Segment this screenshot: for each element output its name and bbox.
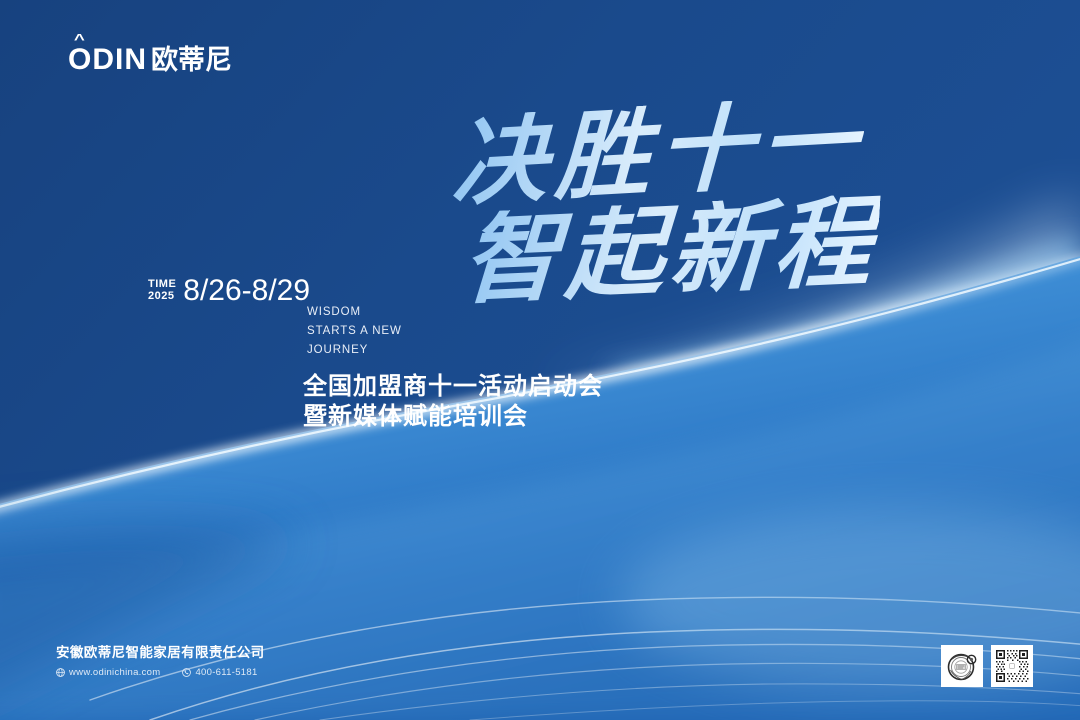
phone-item[interactable]: 400-611-5181 bbox=[182, 667, 257, 678]
main-title: 决胜十一 智起新程 bbox=[430, 105, 930, 355]
phone-icon bbox=[182, 668, 191, 677]
date-range: 8/26-8/29 bbox=[183, 276, 310, 306]
brand-logo: ODIN 欧蒂尼 bbox=[68, 45, 232, 75]
logo-din-letters: DIN bbox=[92, 43, 147, 76]
time-label-stack: TIME 2025 bbox=[148, 279, 176, 306]
company-name: 安徽欧蒂尼智能家居有限责任公司 bbox=[56, 645, 265, 661]
english-tagline: WISDOM STARTS A NEW JOURNEY bbox=[307, 303, 402, 360]
phone-text: 400-611-5181 bbox=[195, 667, 257, 678]
tagline-line1: WISDOM bbox=[307, 303, 402, 322]
website-text: www.odinichina.com bbox=[69, 667, 160, 678]
event-subtitle: 全国加盟商十一活动启动会 暨新媒体赋能培训会 bbox=[303, 371, 603, 431]
circular-seal-icon bbox=[944, 648, 980, 684]
qr-badge[interactable] bbox=[991, 645, 1033, 687]
seal-badge[interactable] bbox=[941, 645, 983, 687]
qr-code-icon bbox=[994, 648, 1030, 684]
tagline-line3: JOURNEY bbox=[307, 341, 402, 360]
badge-group bbox=[941, 645, 1033, 687]
website-item[interactable]: www.odinichina.com bbox=[56, 667, 160, 678]
tagline-line2: STARTS A NEW bbox=[307, 322, 402, 341]
logo-o-letter: O bbox=[68, 45, 92, 75]
poster-canvas: ODIN 欧蒂尼 决胜十一 智起新程 TIME 2025 8/26-8/29 W… bbox=[0, 0, 1080, 720]
logo-chinese: 欧蒂尼 bbox=[151, 47, 232, 74]
main-title-line2: 智起新程 bbox=[459, 193, 880, 310]
subtitle-line1: 全国加盟商十一活动启动会 bbox=[303, 371, 603, 401]
contact-row: www.odinichina.com 400-611-5181 bbox=[56, 667, 265, 678]
subtitle-line2: 暨新媒体赋能培训会 bbox=[303, 401, 603, 431]
footer: 安徽欧蒂尼智能家居有限责任公司 www.odinichina.com 400-6… bbox=[56, 645, 265, 678]
event-date: TIME 2025 8/26-8/29 bbox=[148, 276, 310, 306]
globe-icon bbox=[56, 668, 65, 677]
time-year: 2025 bbox=[148, 291, 176, 303]
logo-latin: ODIN bbox=[68, 45, 147, 75]
